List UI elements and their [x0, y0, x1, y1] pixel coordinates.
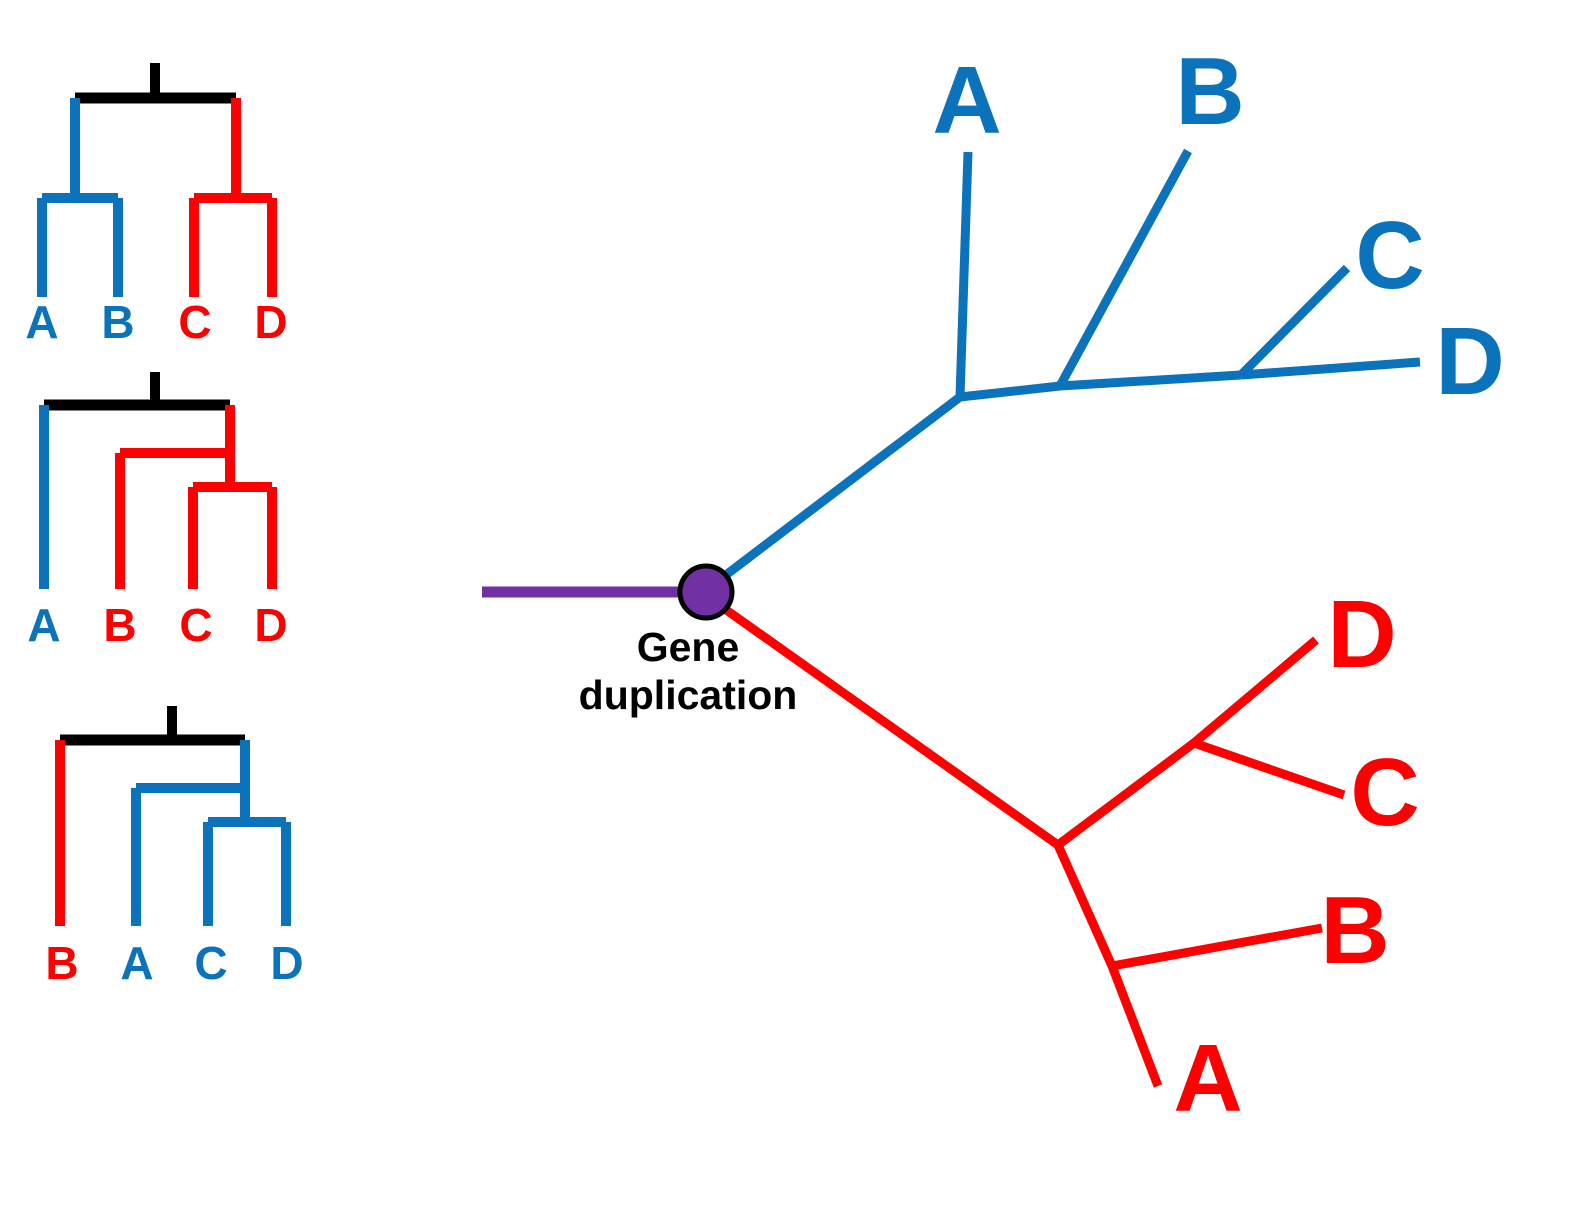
blue-branch-a	[960, 152, 968, 397]
blue-tip-label-a: A	[932, 47, 1001, 154]
blue-paralog-clade: A B C D	[714, 38, 1505, 584]
cladogram-1: A B C D	[25, 63, 287, 348]
cladogram-1-tip-label-3: C	[178, 296, 211, 348]
cladogram-2-tip-label-3: C	[179, 599, 212, 651]
phylogeny-figure: A B C D A B C	[0, 0, 1575, 1212]
red-tip-label-a: A	[1173, 1025, 1242, 1132]
cladogram-3: B A C D	[45, 706, 303, 989]
red-paralog-clade: D C B A	[715, 581, 1420, 1132]
unrooted-gene-tree: A B C D D	[482, 38, 1505, 1132]
cladogram-2-tip-label-2: B	[103, 599, 136, 651]
cladogram-2-tip-label-1: A	[27, 599, 60, 651]
cladogram-1-tip-label-2: B	[101, 296, 134, 348]
gene-duplication-caption-line1: Gene	[637, 624, 740, 670]
gene-duplication-node-icon[interactable]	[680, 566, 732, 618]
red-branch-b	[1112, 928, 1322, 966]
red-clade-stem-branch	[715, 602, 1058, 845]
blue-branch-d	[1241, 362, 1420, 375]
red-tip-label-b: B	[1320, 877, 1389, 984]
blue-internal-branch-2	[1060, 375, 1241, 386]
phylogeny-canvas: A B C D A B C	[0, 0, 1575, 1212]
cladogram-2: A B C D	[27, 372, 287, 651]
cladogram-1-tip-label-4: D	[254, 296, 287, 348]
cladogram-3-tip-label-1: B	[45, 937, 78, 989]
blue-clade-stem-branch	[714, 397, 960, 584]
blue-tip-label-d: D	[1435, 308, 1504, 415]
red-tip-label-d: D	[1327, 581, 1396, 688]
blue-internal-branch-1	[960, 386, 1060, 397]
red-branch-c	[1194, 743, 1344, 795]
cladogram-2-tip-label-4: D	[254, 599, 287, 651]
cladogram-3-tip-label-2: A	[120, 937, 153, 989]
blue-tip-label-c: C	[1355, 202, 1424, 309]
cladogram-1-tip-label-1: A	[25, 296, 58, 348]
red-branch-a	[1112, 966, 1158, 1086]
red-internal-branch-upper	[1058, 743, 1194, 845]
blue-branch-c	[1241, 268, 1347, 375]
cladogram-3-tip-label-4: D	[270, 937, 303, 989]
red-internal-branch-lower	[1058, 845, 1112, 966]
gene-duplication-caption-line2: duplication	[579, 672, 798, 718]
blue-branch-b	[1060, 151, 1188, 386]
red-branch-d	[1194, 640, 1316, 743]
blue-tip-label-b: B	[1175, 38, 1244, 145]
cladogram-3-tip-label-3: C	[194, 937, 227, 989]
red-tip-label-c: C	[1350, 739, 1419, 846]
